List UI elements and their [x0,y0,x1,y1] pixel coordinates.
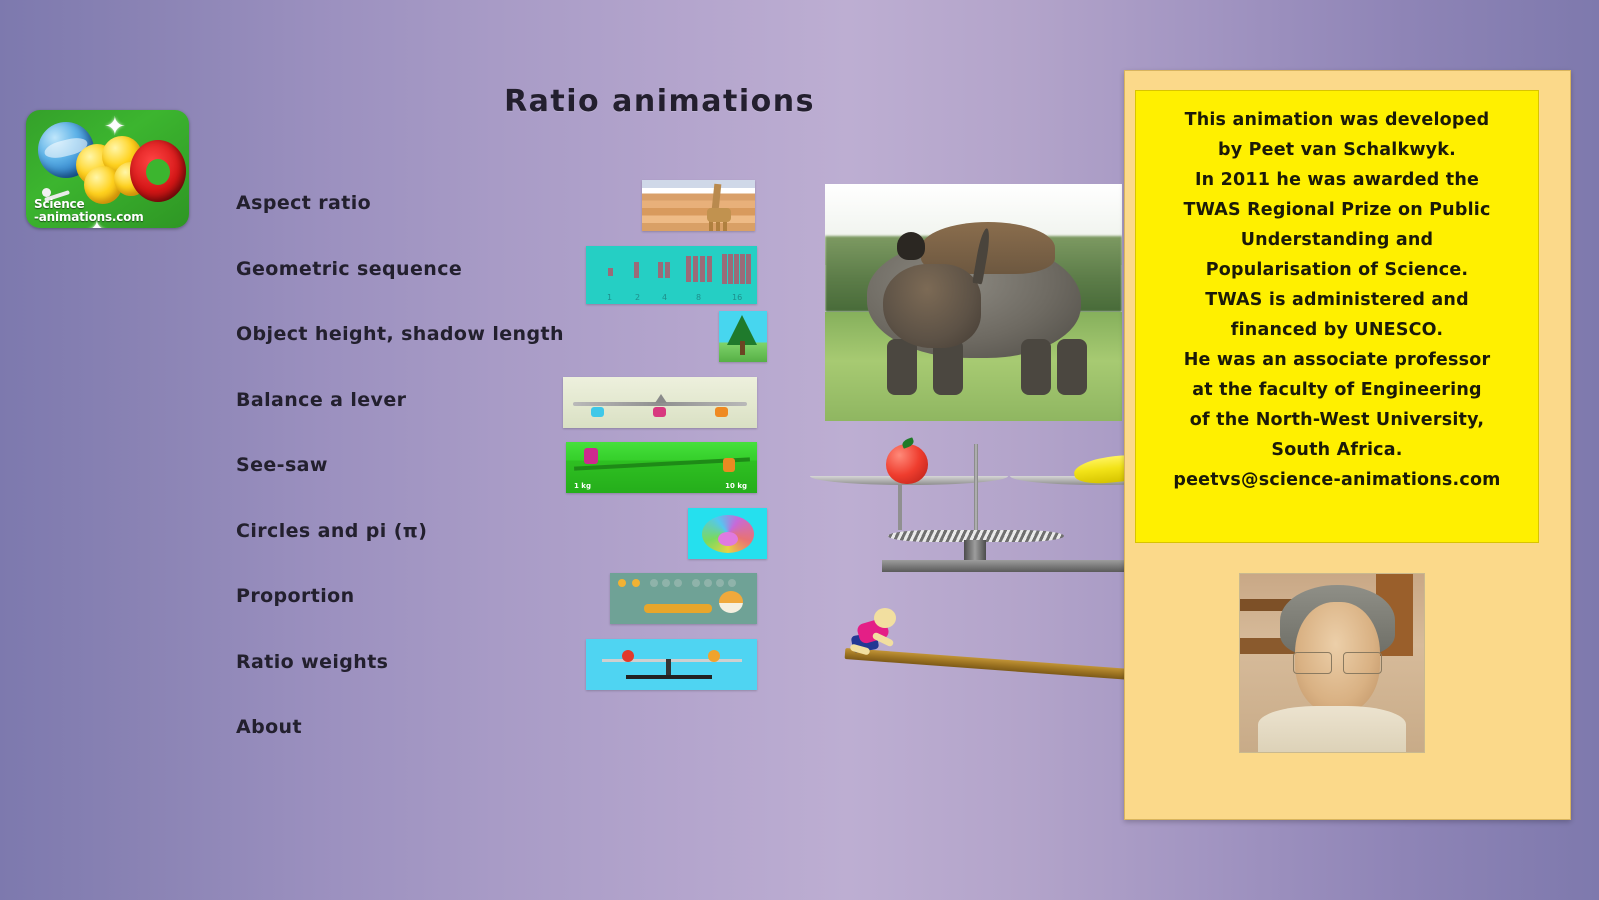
child-on-seesaw-plank [848,608,908,658]
menu-item-aspect-ratio[interactable]: Aspect ratio [236,186,796,252]
geometric-sequence-thumbnail[interactable]: 1 2 4 8 16 [586,246,757,304]
glasses-icon [1293,652,1381,672]
menu-label[interactable]: Ratio weights [236,651,388,673]
logo-text-line2: -animations.com [34,211,189,224]
menu-item-object-height-shadow-length[interactable]: Object height, shadow length [236,317,796,383]
menu-item-geometric-sequence[interactable]: Geometric sequence 1 2 4 8 16 [236,252,796,318]
about-info-card: This animation was developed by Peet van… [1124,70,1571,820]
app-stage: Science -animations.com Ratio animations… [0,0,1599,900]
menu-item-see-saw[interactable]: See-saw 1 kg 10 kg [236,448,796,514]
menu-label[interactable]: Object height, shadow length [236,323,564,345]
menu-item-circles-and-pi[interactable]: Circles and pi (π) [236,514,796,580]
menu-item-about[interactable]: About [236,710,796,776]
circles-pi-thumbnail[interactable] [688,508,767,559]
circle-center-icon [718,532,738,546]
menu-item-proportion[interactable]: Proportion [236,579,796,645]
see-saw-thumbnail[interactable]: 1 kg 10 kg [566,442,757,493]
weight-icon [715,407,728,417]
about-text: This animation was developed by Peet van… [1148,105,1526,495]
menu-label[interactable]: See-saw [236,454,328,476]
geo-number: 16 [732,293,742,302]
balance-scale-apple-banana [810,430,1140,580]
menu-label[interactable]: About [236,716,302,738]
proportion-bar [644,604,712,613]
geo-number: 8 [696,293,701,302]
menu-label[interactable]: Aspect ratio [236,192,371,214]
child-icon [584,448,598,464]
weights-base [626,675,712,679]
gear-icon [130,140,186,202]
geo-number: 2 [635,293,640,302]
tree-trunk [740,341,745,355]
weights-post [666,659,671,675]
geo-number: 4 [662,293,667,302]
menu-label[interactable]: Circles and pi (π) [236,520,427,542]
apple-icon [886,444,928,484]
giraffe-icon [699,184,733,230]
portrait-of-peet-van-schalkwyk [1239,573,1425,753]
fulcrum-icon [655,394,667,403]
menu-label[interactable]: Proportion [236,585,355,607]
seesaw-right-label: 10 kg [725,482,747,490]
geo-number: 1 [607,293,612,302]
lever-balance-thumbnail[interactable] [563,377,757,428]
child-icon [723,458,735,472]
proportion-thumbnail[interactable] [610,573,757,624]
seesaw-left-label: 1 kg [574,482,591,490]
rhinoceros-photo [825,184,1122,421]
weight-icon [622,650,634,662]
science-animations-logo[interactable]: Science -animations.com [26,110,189,228]
about-text-box: This animation was developed by Peet van… [1135,90,1539,543]
logo-text: Science -animations.com [26,198,189,224]
weight-icon [708,650,720,662]
weight-icon [653,407,666,417]
tree-shadow-thumbnail[interactable] [719,311,767,362]
proportion-ball [719,591,743,613]
weight-icon [591,407,604,417]
menu-label[interactable]: Geometric sequence [236,258,462,280]
menu-label[interactable]: Balance a lever [236,389,406,411]
ratio-weights-thumbnail[interactable] [586,639,757,690]
animation-menu: Aspect ratio Geometric sequence [236,186,796,776]
menu-item-ratio-weights[interactable]: Ratio weights [236,645,796,711]
giraffe-aspect-ratio-thumbnail[interactable] [642,180,755,231]
menu-item-balance-a-lever[interactable]: Balance a lever [236,383,796,449]
